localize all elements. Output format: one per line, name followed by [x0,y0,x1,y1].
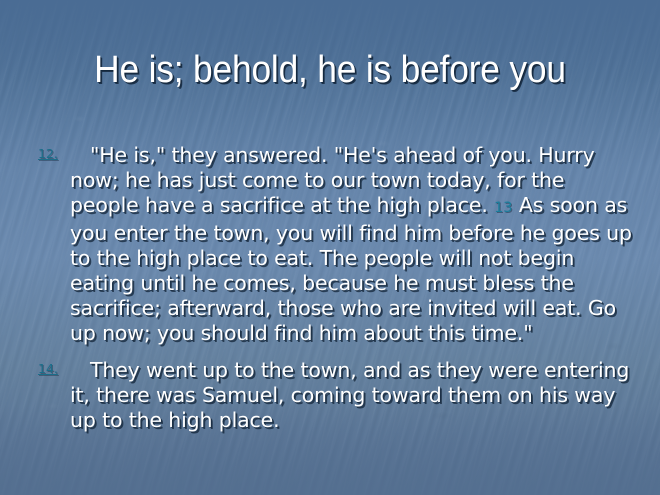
scripture-paragraph-12: 12."He is," they answered. "He's ahead o… [34,143,634,346]
verse-14-text: They went up to the town, and as they we… [70,358,629,432]
scripture-paragraph-14: 14.They went up to the town, and as they… [34,358,634,433]
presentation-slide: He is; behold, he is before you 12."He i… [0,0,660,495]
verse-marker-12: 12. [38,148,58,161]
verse-number-13-inline: 13 [494,200,512,216]
slide-title: He is; behold, he is before you [23,48,637,92]
slide-content: He is; behold, he is before you 12."He i… [0,0,660,495]
verse-marker-14: 14. [38,363,58,376]
slide-body: 12."He is," they answered. "He's ahead o… [34,143,634,433]
